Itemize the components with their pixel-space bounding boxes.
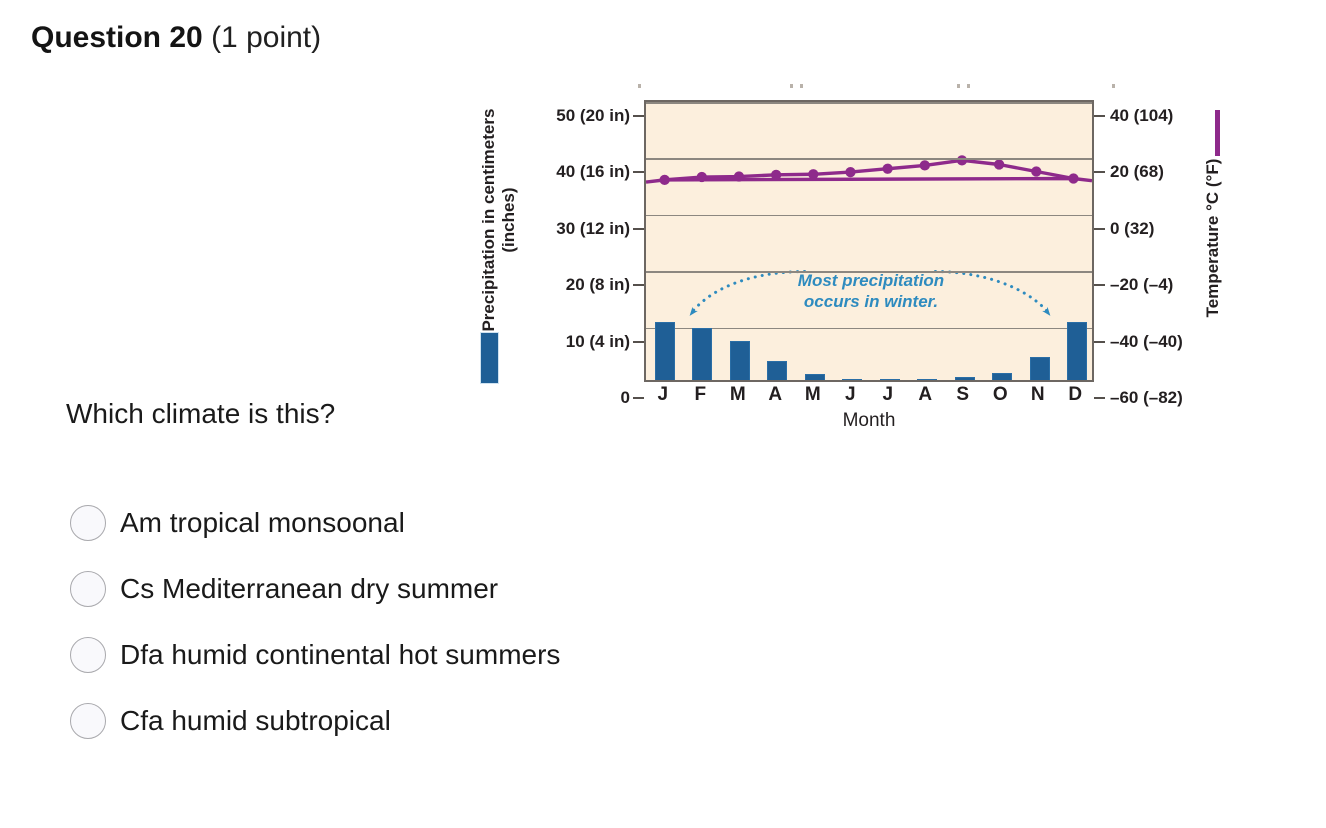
question-header: Question 20 (1 point) — [31, 20, 321, 56]
x-axis-title: Month — [644, 410, 1094, 432]
left-tick-mark — [633, 341, 644, 343]
right-tick-mark — [1094, 341, 1105, 343]
precipitation-bar — [805, 374, 825, 380]
left-axis-ticks: 50 (20 in)40 (16 in)30 (12 in)20 (8 in)1… — [518, 96, 644, 386]
left-tick-label: 50 (20 in) — [556, 106, 630, 126]
left-tick-label: 40 (16 in) — [556, 162, 630, 182]
right-tick-label: –20 (–4) — [1110, 275, 1173, 295]
temperature-point — [808, 169, 818, 179]
radio-button-dfa[interactable] — [70, 637, 106, 673]
temperature-point — [994, 159, 1004, 169]
precipitation-bar — [955, 377, 975, 380]
question-prompt: Which climate is this? — [66, 398, 335, 430]
right-tick-mark — [1094, 284, 1105, 286]
x-tick-label: O — [982, 384, 1020, 410]
radio-button-cfa[interactable] — [70, 703, 106, 739]
left-tick-label: 30 (12 in) — [556, 219, 630, 239]
right-tick-mark — [1094, 171, 1105, 173]
left-tick-mark — [633, 397, 644, 399]
right-tick-label: –60 (–82) — [1110, 388, 1183, 408]
gridline — [646, 328, 1092, 330]
x-tick-label: J — [869, 384, 907, 410]
precipitation-bar — [880, 379, 900, 380]
precipitation-bar — [917, 379, 937, 380]
precipitation-bar — [655, 322, 675, 380]
right-tick-label: –40 (–40) — [1110, 332, 1183, 352]
right-tick-mark — [1094, 397, 1105, 399]
x-axis-tick-labels: JFMAMJJASOND — [644, 384, 1094, 410]
temperature-point — [882, 164, 892, 174]
temperature-line-series — [646, 102, 1092, 380]
plot-area: Most precipitation occurs in winter. — [644, 100, 1094, 382]
question-number: Question 20 — [31, 21, 203, 54]
option-row-am[interactable]: Am tropical monsoonal — [70, 490, 830, 556]
question-points: (1 point) — [211, 21, 321, 54]
radio-button-am[interactable] — [70, 505, 106, 541]
option-row-dfa[interactable]: Dfa humid continental hot summers — [70, 622, 830, 688]
precipitation-swatch-icon — [480, 332, 499, 384]
radio-button-cs[interactable] — [70, 571, 106, 607]
annotation-arrowhead — [687, 307, 698, 318]
right-tick-mark — [1094, 228, 1105, 230]
annotation-arrowhead — [1042, 307, 1053, 318]
x-tick-label: A — [757, 384, 795, 410]
gridline — [646, 158, 1092, 160]
right-axis-title: Temperature °C (°F) — [1203, 113, 1223, 363]
temperature-point — [1068, 173, 1078, 183]
right-tick-mark — [1094, 115, 1105, 117]
gridline — [646, 215, 1092, 217]
temperature-point — [957, 155, 967, 165]
x-tick-label: F — [682, 384, 720, 410]
x-tick-label: J — [644, 384, 682, 410]
precipitation-bar — [842, 379, 862, 380]
precipitation-annotation: Most precipitation occurs in winter. — [771, 270, 971, 313]
climograph-figure: Precipitation in centimeters (inches) 50… — [470, 80, 1240, 430]
temperature-point — [845, 167, 855, 177]
left-tick-mark — [633, 284, 644, 286]
right-tick-label: 0 (32) — [1110, 219, 1154, 239]
left-tick-mark — [633, 171, 644, 173]
x-tick-label: S — [944, 384, 982, 410]
cropped-title-remnant — [470, 80, 1240, 94]
x-tick-label: J — [832, 384, 870, 410]
option-row-cfa[interactable]: Cfa humid subtropical — [70, 688, 830, 754]
x-tick-label: M — [794, 384, 832, 410]
x-tick-label: D — [1057, 384, 1095, 410]
precipitation-bar — [1067, 322, 1087, 380]
option-label-dfa: Dfa humid continental hot summers — [120, 639, 560, 671]
x-tick-label: M — [719, 384, 757, 410]
temperature-point — [1031, 166, 1041, 176]
temperature-point — [920, 160, 930, 170]
temperature-point — [697, 172, 707, 182]
precipitation-bar — [992, 373, 1012, 380]
x-tick-label: N — [1019, 384, 1057, 410]
x-tick-label: A — [907, 384, 945, 410]
temperature-point — [659, 175, 669, 185]
precipitation-bar — [730, 341, 750, 380]
left-axis-title: Precipitation in centimeters (inches) — [479, 87, 519, 353]
option-label-cfa: Cfa humid subtropical — [120, 705, 391, 737]
temperature-legend: Temperature °C (°F) — [1182, 96, 1240, 406]
temperature-point — [734, 171, 744, 181]
option-label-cs: Cs Mediterranean dry summer — [120, 573, 498, 605]
left-tick-label: 20 (8 in) — [566, 275, 630, 295]
left-tick-label: 10 (4 in) — [566, 332, 630, 352]
right-tick-label: 20 (68) — [1110, 162, 1164, 182]
left-tick-mark — [633, 228, 644, 230]
option-label-am: Am tropical monsoonal — [120, 507, 405, 539]
precipitation-bar — [767, 361, 787, 380]
gridline — [646, 102, 1092, 104]
precipitation-bar — [1030, 357, 1050, 380]
left-tick-label: 0 — [621, 388, 630, 408]
answer-options: Am tropical monsoonalCs Mediterranean dr… — [70, 490, 830, 754]
precipitation-bar — [692, 328, 712, 380]
left-tick-mark — [633, 115, 644, 117]
right-tick-label: 40 (104) — [1110, 106, 1173, 126]
option-row-cs[interactable]: Cs Mediterranean dry summer — [70, 556, 830, 622]
temperature-point — [771, 170, 781, 180]
